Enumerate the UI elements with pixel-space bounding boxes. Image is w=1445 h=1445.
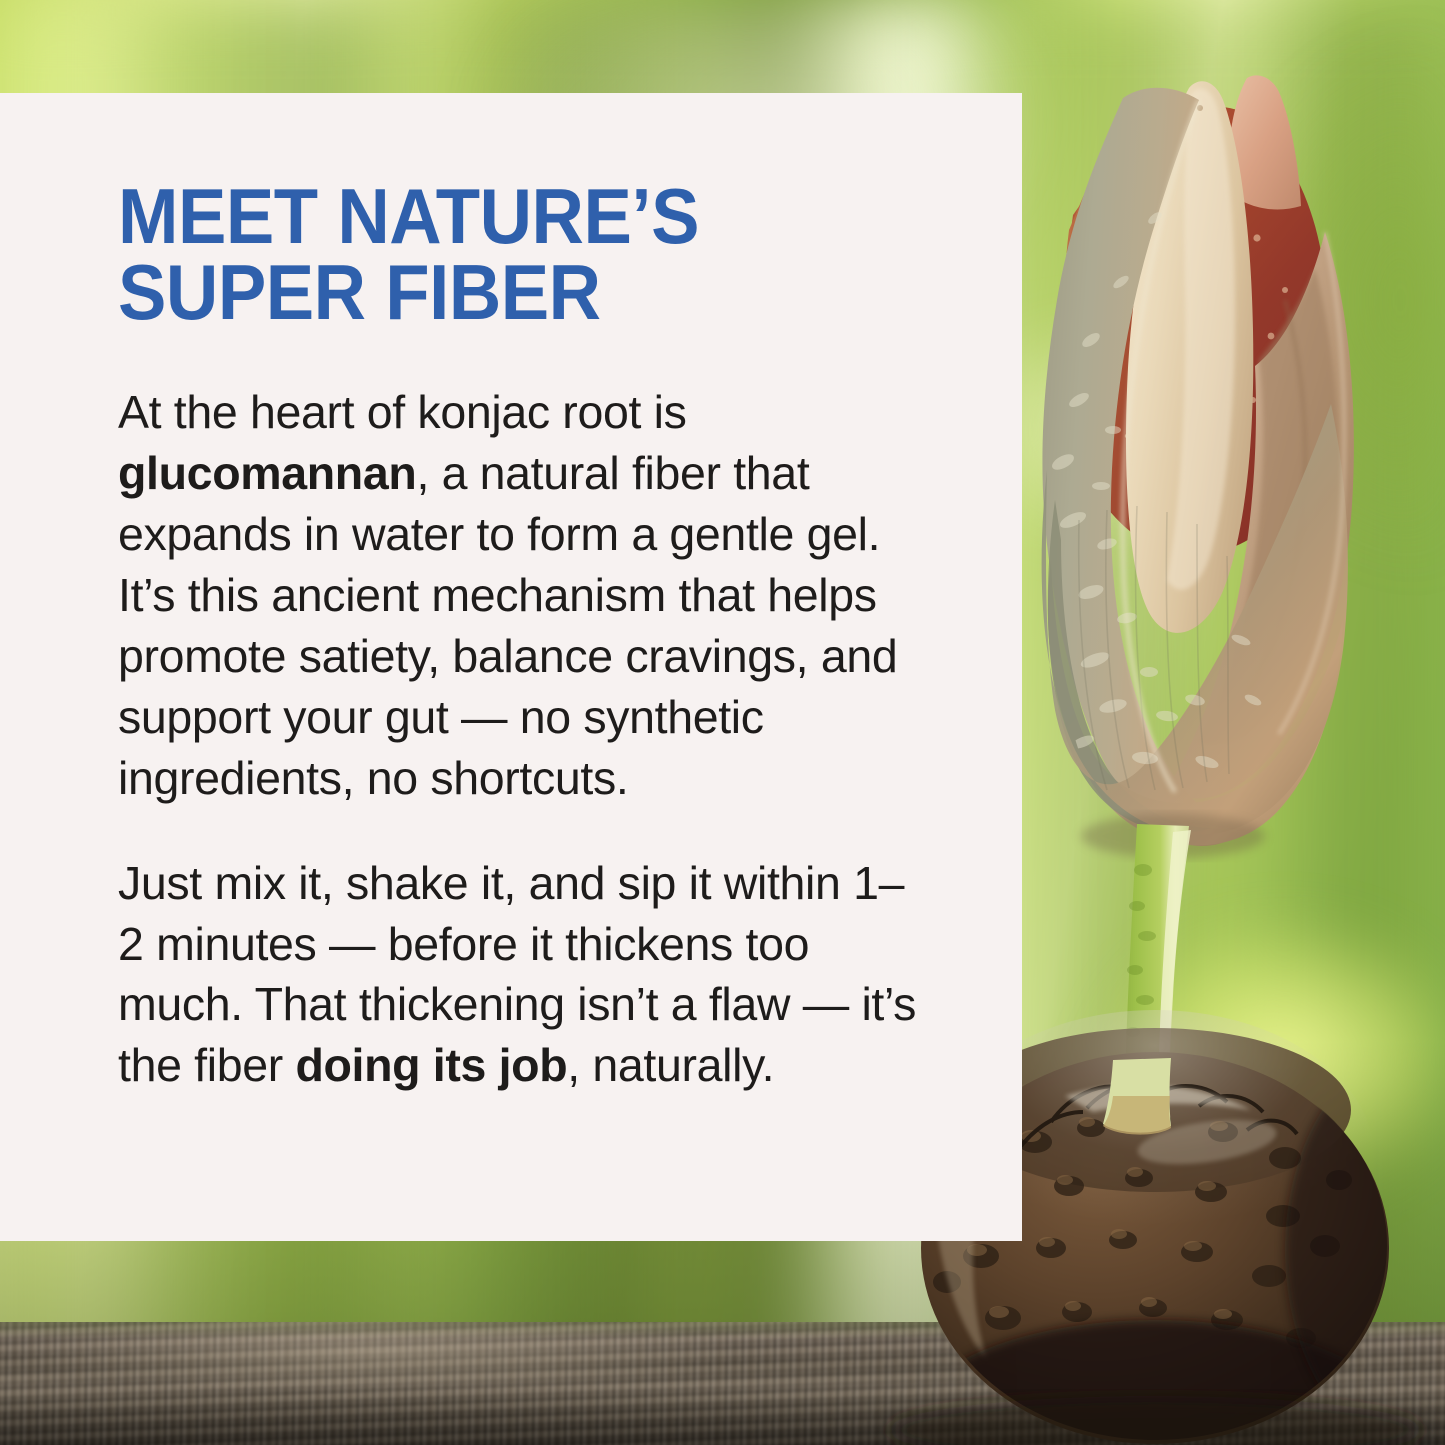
emphasis-term: doing its job <box>295 1039 567 1091</box>
body-text-run: , a natural fiber that expands in water … <box>118 447 897 804</box>
advertisement-canvas: MEET NATURE’S SUPER FIBER At the heart o… <box>0 0 1445 1445</box>
wood-plank-surface <box>0 1322 1445 1445</box>
body-text-run: , naturally. <box>567 1039 774 1091</box>
text-card: MEET NATURE’S SUPER FIBER At the heart o… <box>0 93 1022 1241</box>
emphasis-term: glucomannan <box>118 447 416 499</box>
body-text-run: At the heart of konjac root is <box>118 386 686 438</box>
body-paragraph: Just mix it, shake it, and sip it within… <box>118 853 918 1097</box>
body-copy: At the heart of konjac root is glucomann… <box>118 382 918 1096</box>
page-title: MEET NATURE’S SUPER FIBER <box>118 179 862 330</box>
body-paragraph: At the heart of konjac root is glucomann… <box>118 382 918 808</box>
